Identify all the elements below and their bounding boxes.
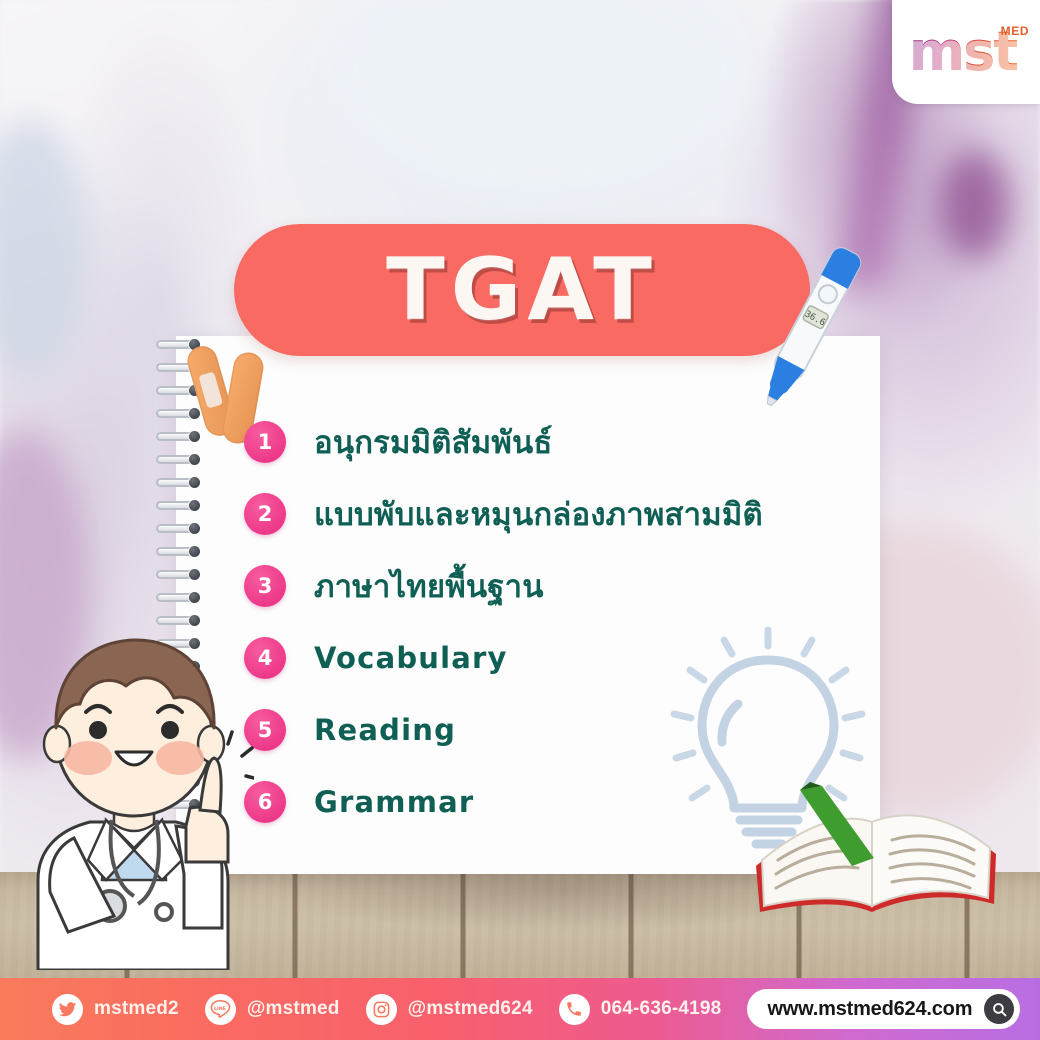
contact-instagram[interactable]: @mstmed624	[366, 994, 533, 1025]
list-item: 1อนุกรมมิติสัมพันธ์	[244, 406, 844, 478]
list-item: 6Grammar	[244, 766, 844, 838]
spiral-ring	[156, 409, 200, 418]
contact-label: mstmed2	[94, 998, 179, 1020]
contact-line[interactable]: LINE @mstmed	[205, 994, 340, 1025]
doctor-character	[14, 612, 254, 970]
logo-wrap: mst MED	[909, 28, 1023, 77]
poster-canvas: mst MED TGAT	[0, 0, 1040, 1040]
spiral-ring	[156, 501, 200, 510]
page-title: TGAT	[386, 240, 658, 340]
list-item-number-badge: 2	[244, 493, 286, 535]
list-item-number-badge: 3	[244, 565, 286, 607]
list-item-label: แบบพับและหมุนกล่องภาพสามมิติ	[314, 489, 763, 539]
website-url: www.mstmed624.com	[767, 998, 972, 1021]
spiral-ring	[156, 570, 200, 579]
spiral-ring	[156, 547, 200, 556]
spiral-ring	[156, 432, 200, 441]
contact-phone[interactable]: 064-636-4198	[559, 994, 722, 1025]
list-item: 3ภาษาไทยพื้นฐาน	[244, 550, 844, 622]
list-item-label: Grammar	[314, 785, 474, 819]
search-icon[interactable]	[984, 994, 1014, 1024]
contact-twitter[interactable]: mstmed2	[52, 994, 179, 1025]
spiral-ring	[156, 478, 200, 487]
contact-label: @mstmed	[247, 998, 340, 1020]
list-item-number-badge: 1	[244, 421, 286, 463]
instagram-icon	[366, 994, 397, 1025]
list-item: 5Reading	[244, 694, 844, 766]
list-item: 2แบบพับและหมุนกล่องภาพสามมิติ	[244, 478, 844, 550]
brand-logo-badge[interactable]: mst MED	[892, 0, 1040, 104]
line-icon: LINE	[205, 994, 236, 1025]
spiral-ring	[156, 593, 200, 602]
logo-superscript: MED	[1001, 24, 1029, 38]
tgat-banner: TGAT	[234, 224, 810, 356]
footer-contact-bar: mstmed2 LINE @mstmed @mstmed624	[0, 978, 1040, 1040]
list-item-label: Reading	[314, 713, 456, 747]
thermometer-icon: 36.6	[726, 236, 896, 416]
website-pill[interactable]: www.mstmed624.com	[747, 989, 1020, 1029]
contact-label: @mstmed624	[408, 998, 533, 1020]
svg-text:LINE: LINE	[214, 1006, 226, 1012]
topic-list: 1อนุกรมมิติสัมพันธ์2แบบพับและหมุนกล่องภา…	[244, 406, 844, 838]
spiral-ring	[156, 524, 200, 533]
spiral-ring	[156, 455, 200, 464]
background-blob-purple	[940, 150, 1010, 260]
twitter-icon	[52, 994, 83, 1025]
list-item-label: Vocabulary	[314, 641, 508, 675]
list-item-label: อนุกรมมิติสัมพันธ์	[314, 417, 553, 467]
contact-label: 064-636-4198	[601, 998, 722, 1020]
phone-icon	[559, 994, 590, 1025]
list-item-label: ภาษาไทยพื้นฐาน	[314, 561, 544, 611]
list-item: 4Vocabulary	[244, 622, 844, 694]
